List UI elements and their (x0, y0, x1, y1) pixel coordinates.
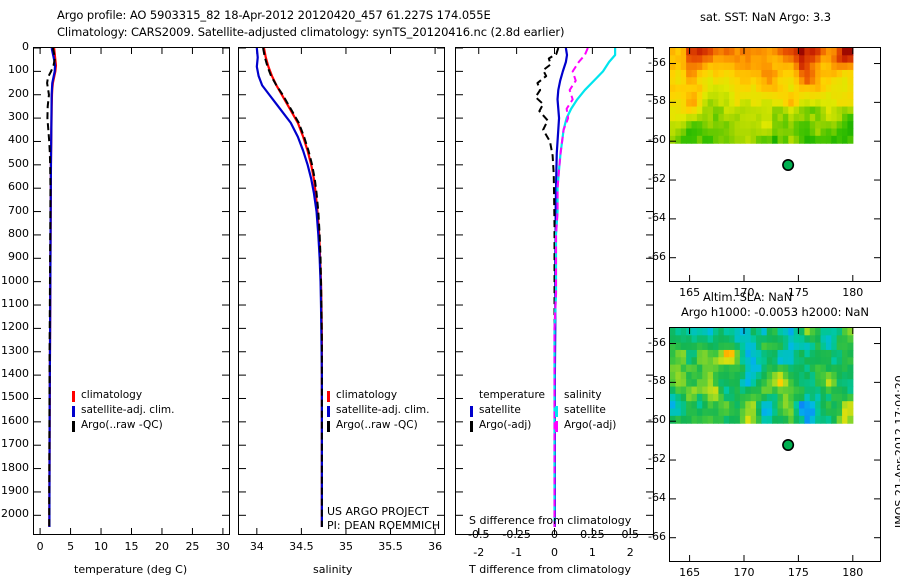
sst-map-field (670, 48, 880, 281)
salinity-tick-35: 35 (330, 540, 362, 553)
sla-map-panel (669, 327, 881, 562)
t-diff-tick: 2 (618, 546, 642, 559)
legend-label: satellite-adj. clim. (336, 404, 429, 416)
argo-pi-credit: PI: DEAN ROEMMICH (327, 519, 440, 532)
depth-tick-1200: 1200 (0, 320, 29, 333)
legend-swatch (72, 391, 75, 402)
legend-group-header: salinity (555, 389, 602, 404)
depth-tick-1800: 1800 (0, 461, 29, 474)
depth-axis-labels-temperature: 0100200300400500600700800900100011001200… (0, 0, 33, 580)
longitude-tick-180: 180 (839, 566, 867, 579)
temperature-tick-0: 0 (31, 540, 49, 553)
legend-label: Argo(-adj) (479, 419, 531, 431)
t-diff-tick: -1 (505, 546, 529, 559)
legend-label: climatology (336, 389, 397, 401)
s-diff-tick: -0.5 (462, 528, 496, 541)
latitude-tick--66: -66 (639, 530, 666, 543)
salinity-axis-label: salinity (313, 563, 352, 576)
temperature-difference-axis-label: T difference from climatology (469, 563, 631, 576)
salinity-profile-chart (239, 48, 444, 534)
legend-swatch (470, 406, 473, 417)
depth-tick-600: 600 (0, 180, 29, 193)
temperature-tick-10: 10 (92, 540, 110, 553)
temperature-tick-15: 15 (123, 540, 141, 553)
salinity-plot-panel (238, 47, 445, 535)
depth-tick-1600: 1600 (0, 414, 29, 427)
latitude-tick--62: -62 (639, 452, 666, 465)
legend-label: satellite-adj. clim. (81, 404, 174, 416)
legend-swatch (555, 421, 558, 432)
legend-group: salinitysatelliteArgo(-adj) (555, 389, 602, 434)
legend-swatch (327, 421, 330, 432)
difference-plot-panel (455, 47, 654, 535)
legend-label: Argo(..raw -QC) (336, 419, 418, 431)
header-line-2: Climatology: CARS2009. Satellite-adjuste… (57, 25, 564, 39)
depth-tick-800: 800 (0, 227, 29, 240)
temperature-profile-chart (34, 48, 229, 534)
legend-swatch (470, 421, 473, 432)
depth-tick-700: 700 (0, 204, 29, 217)
latitude-tick--56: -56 (639, 336, 666, 349)
depth-tick-1500: 1500 (0, 390, 29, 403)
latitude-tick--60: -60 (639, 133, 666, 146)
legend-label: Argo(..raw -QC) (81, 419, 163, 431)
salinity-difference-axis-label: S difference from climatology (469, 514, 631, 527)
s-diff-tick: 0.25 (575, 528, 609, 541)
legend-item: Argo(-adj) (555, 419, 602, 434)
legend-item: satellite (555, 404, 602, 419)
legend-label: satellite (564, 404, 606, 416)
latitude-tick--64: -64 (639, 491, 666, 504)
argo-project-credit: US ARGO PROJECT (327, 505, 429, 518)
depth-tick-400: 400 (0, 133, 29, 146)
longitude-tick-175: 175 (784, 566, 812, 579)
series-salinity-satellite (555, 48, 616, 527)
series-argo-raw-qc- (263, 48, 322, 527)
legend-item: Argo(-adj) (470, 419, 545, 434)
sla-map-field (670, 328, 880, 561)
sla-map-title-line-2: Argo h1000: -0.0053 h2000: NaN (681, 305, 869, 319)
legend-group: temperaturesatelliteArgo(-adj) (470, 389, 545, 434)
longitude-tick-180: 180 (839, 286, 867, 299)
t-diff-tick: 0 (543, 546, 567, 559)
latitude-tick--58: -58 (639, 94, 666, 107)
temperature-tick-30: 30 (214, 540, 232, 553)
depth-tick-2000: 2000 (0, 507, 29, 520)
depth-tick-1100: 1100 (0, 297, 29, 310)
argo-float-marker (783, 160, 793, 170)
legend-group-header: temperature (470, 389, 545, 404)
legend-label: climatology (81, 389, 142, 401)
temperature-tick-5: 5 (62, 540, 80, 553)
map-raster (670, 48, 853, 144)
depth-tick-0: 0 (0, 40, 29, 53)
salinity-tick-36: 36 (419, 540, 451, 553)
s-diff-tick: -0.25 (500, 528, 534, 541)
salinity-tick-34-5: 34.5 (285, 540, 317, 553)
depth-tick-1700: 1700 (0, 437, 29, 450)
temperature-plot-panel (33, 47, 230, 535)
depth-tick-100: 100 (0, 63, 29, 76)
legend-label: Argo(-adj) (564, 419, 616, 431)
legend-label: satellite (479, 404, 521, 416)
sst-map-title: sat. SST: NaN Argo: 3.3 (700, 10, 831, 24)
legend-swatch (72, 406, 75, 417)
map-raster (670, 328, 853, 424)
depth-tick-500: 500 (0, 157, 29, 170)
sst-map-panel (669, 47, 881, 282)
legend-swatch (72, 421, 75, 432)
temperature-tick-20: 20 (153, 540, 171, 553)
depth-tick-1300: 1300 (0, 344, 29, 357)
depth-tick-1400: 1400 (0, 367, 29, 380)
latitude-tick--64: -64 (639, 211, 666, 224)
imos-timestamp: IMOS 21-Apr-2012 17:04:20 (893, 375, 900, 528)
depth-tick-200: 200 (0, 87, 29, 100)
depth-tick-300: 300 (0, 110, 29, 123)
series-satellite-adj-clim- (257, 48, 322, 527)
latitude-tick--58: -58 (639, 374, 666, 387)
temperature-tick-25: 25 (183, 540, 201, 553)
latitude-tick--62: -62 (639, 172, 666, 185)
salinity-tick-35-5: 35.5 (375, 540, 407, 553)
temperature-axis-label: temperature (deg C) (74, 563, 187, 576)
depth-tick-1900: 1900 (0, 484, 29, 497)
legend-item: satellite (470, 404, 545, 419)
longitude-tick-170: 170 (730, 566, 758, 579)
s-diff-tick: 0 (538, 528, 572, 541)
t-diff-tick: 1 (580, 546, 604, 559)
longitude-tick-165: 165 (676, 566, 704, 579)
sla-map-title-line-1: Altim. SLA: NaN (703, 290, 792, 304)
legend-swatch (327, 391, 330, 402)
latitude-tick--56: -56 (639, 56, 666, 69)
longitude-tick-165: 165 (676, 286, 704, 299)
argo-float-marker (783, 440, 793, 450)
series-climatology (264, 48, 322, 527)
salinity-tick-34: 34 (241, 540, 273, 553)
latitude-tick--66: -66 (639, 250, 666, 263)
depth-tick-1000: 1000 (0, 274, 29, 287)
header-line-1: Argo profile: AO 5903315_82 18-Apr-2012 … (57, 8, 491, 22)
difference-profile-chart (456, 48, 653, 534)
legend-swatch (555, 406, 558, 417)
legend-swatch (327, 406, 330, 417)
depth-tick-900: 900 (0, 250, 29, 263)
t-diff-tick: -2 (467, 546, 491, 559)
latitude-tick--60: -60 (639, 413, 666, 426)
